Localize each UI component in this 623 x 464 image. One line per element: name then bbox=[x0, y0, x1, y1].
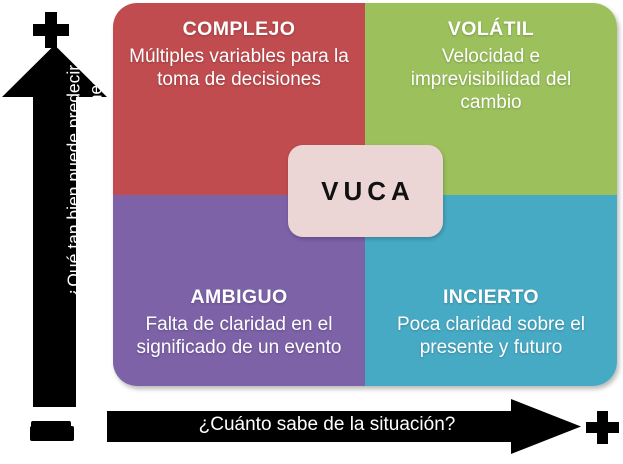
horizontal-axis-minus-icon bbox=[31, 421, 71, 434]
vertical-axis-plus-icon bbox=[33, 12, 69, 48]
quadrant-incierto-description: Poca claridad sobre el presente y futuro bbox=[379, 314, 603, 360]
horizontal-axis-arrow-icon bbox=[107, 399, 581, 454]
quadrant-volatil-description: Velocidad e imprevisibilidad del cambio bbox=[379, 46, 603, 114]
quadrant-ambiguo-description: Falta de claridad en el significado de u… bbox=[127, 314, 351, 360]
vuca-diagram: COMPLEJO Múltiples variables para la tom… bbox=[0, 0, 623, 464]
quadrant-volatil-title: VOLÁTIL bbox=[448, 17, 534, 41]
quadrant-complejo-description: Múltiples variables para la toma de deci… bbox=[127, 46, 351, 92]
quadrant-ambiguo-title: AMBIGUO bbox=[190, 285, 287, 309]
horizontal-axis-plus-icon bbox=[586, 411, 619, 444]
quadrant-incierto-title: INCIERTO bbox=[443, 285, 539, 309]
vuca-center-badge[interactable]: VUCA bbox=[288, 145, 443, 237]
quadrant-complejo-title: COMPLEJO bbox=[183, 17, 296, 41]
vuca-center-label: VUCA bbox=[316, 176, 415, 207]
vertical-axis-arrow-icon bbox=[2, 45, 107, 407]
